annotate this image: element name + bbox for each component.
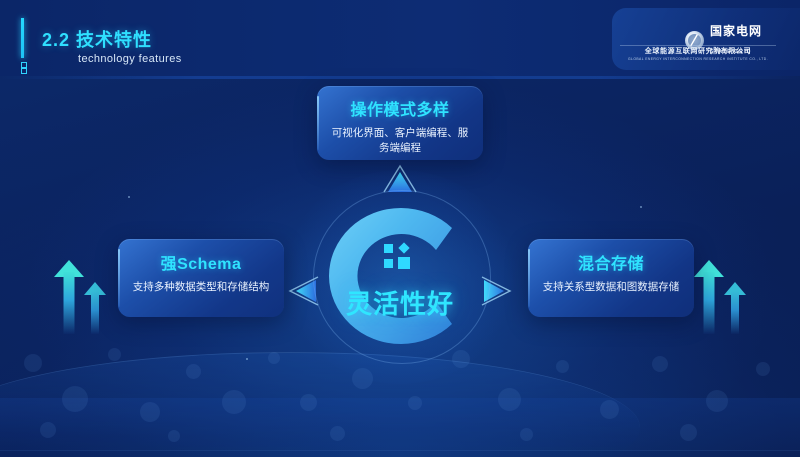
header-divider <box>0 76 800 79</box>
page-title: 2.2 技术特性 <box>42 26 152 52</box>
feature-card-left[interactable]: 强Schema 支持多种数据类型和存储结构 <box>118 239 284 317</box>
feature-card-top-title: 操作模式多样 <box>317 96 483 120</box>
sparkle-decor <box>640 206 642 208</box>
feature-card-top[interactable]: 操作模式多样 可视化界面、客户端编程、服务端编程 <box>317 86 483 160</box>
center-ring-group: 灵活性好 <box>305 188 495 364</box>
feature-card-top-desc: 可视化界面、客户端编程、服务端编程 <box>329 126 471 156</box>
squares-glyph-icon <box>384 244 416 272</box>
org-name-cn: 全球能源互联网研究院有限公司 <box>620 48 776 55</box>
org-name-en: GLOBAL ENERGY INTERCONNECTION RESEARCH I… <box>620 58 776 61</box>
logo-divider <box>620 45 776 46</box>
center-label: 灵活性好 <box>305 284 495 321</box>
header-accent-bar <box>21 18 24 58</box>
sparkle-decor <box>128 196 130 198</box>
growth-arrows-right-icon <box>692 248 750 334</box>
feature-card-right-title: 混合存储 <box>528 250 694 274</box>
state-grid-emblem-icon <box>685 31 704 50</box>
c-ring-icon <box>305 188 495 364</box>
header-accent-dot <box>21 68 27 74</box>
growth-arrows-left-icon <box>52 248 110 334</box>
sparkle-decor <box>246 358 248 360</box>
feature-card-right[interactable]: 混合存储 支持关系型数据和图数据存储 <box>528 239 694 317</box>
feature-card-right-desc: 支持关系型数据和图数据存储 <box>540 280 682 295</box>
page-subtitle: technology features <box>78 53 182 65</box>
feature-card-left-title: 强Schema <box>118 250 284 274</box>
brand-name-cn: 国家电网 <box>710 24 762 38</box>
feature-card-left-desc: 支持多种数据类型和存储结构 <box>130 280 272 295</box>
slide-canvas: 2.2 技术特性 technology features 国家电网 STATE … <box>0 0 800 457</box>
